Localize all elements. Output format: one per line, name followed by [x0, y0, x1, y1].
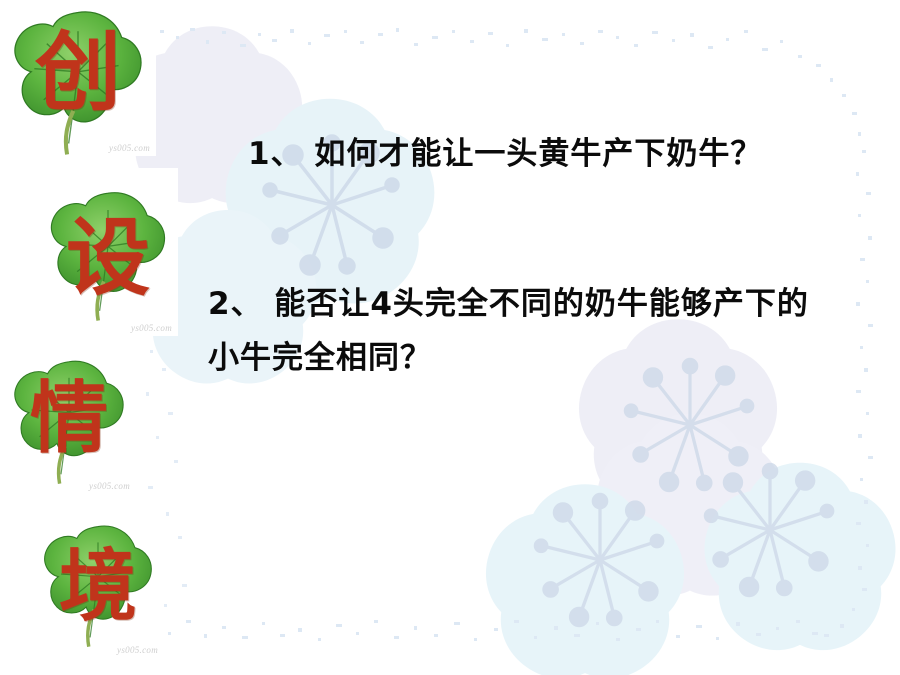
question-line-2: 2、 能否让4头完全不同的奶牛能够产下的 [208, 278, 809, 323]
slide-body-text: 1、 如何才能让一头黄牛产下奶牛？ 2、 能否让4头完全不同的奶牛能够产下的 小… [0, 0, 900, 675]
question-line-1: 1、 如何才能让一头黄牛产下奶牛？ [248, 128, 762, 173]
question-line-3: 小牛完全相同？ [208, 332, 432, 377]
presentation-slide: 创 ys005.com 设 ys005.com [0, 0, 900, 675]
